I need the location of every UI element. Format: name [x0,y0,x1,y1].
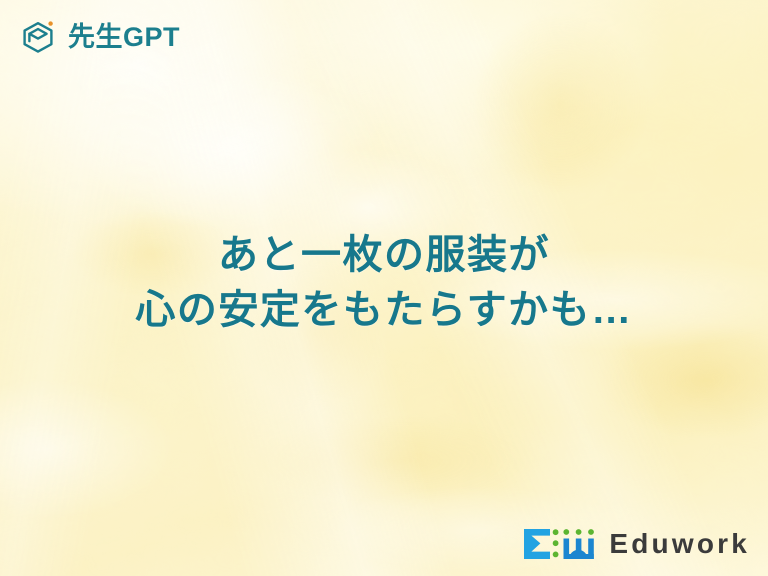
eduwork-wordmark: Eduwork [609,530,750,558]
eduwork-logo[interactable]: Eduwork [522,526,750,562]
brand-logo[interactable]: 先生GPT [17,16,180,58]
hexagon-graduation-cap-icon [17,16,59,58]
headline-line-2: 心の安定をもたらすかも… [0,283,768,338]
slide-canvas: 先生GPT あと一枚の服装が 心の安定をもたらすかも… [0,0,768,576]
eduwork-mark-icon [522,526,596,562]
page-title: あと一枚の服装が 心の安定をもたらすかも… [0,228,768,338]
headline-line-1: あと一枚の服装が [0,228,768,283]
brand-name: 先生GPT [68,24,180,51]
